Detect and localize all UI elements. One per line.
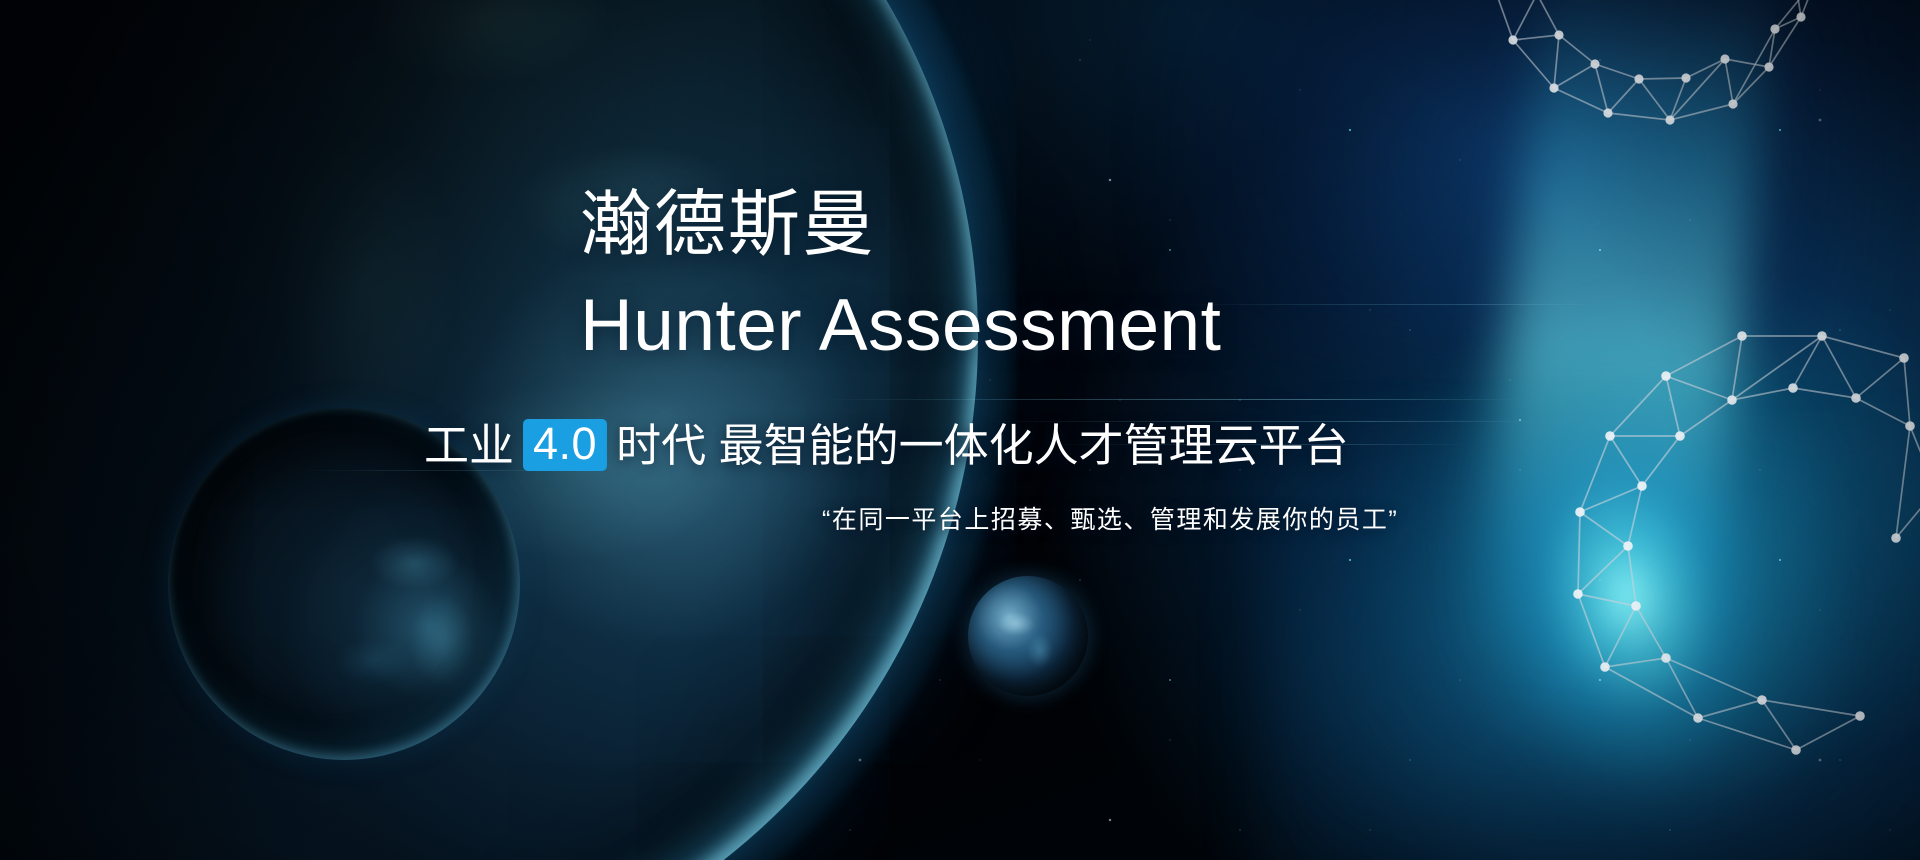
- brand-title-english: Hunter Assessment: [580, 289, 1221, 362]
- tagline: 工业 4.0 时代 最智能的一体化人才管理云平台: [424, 419, 1349, 471]
- brand-title-chinese: 瀚德斯曼: [580, 189, 876, 261]
- hero-banner: 瀚德斯曼 Hunter Assessment 工业 4.0 时代 最智能的一体化…: [0, 0, 1920, 860]
- tagline-subquote: “在同一平台上招募、甄选、管理和发展你的员工”: [822, 508, 1398, 533]
- tagline-prefix: 工业: [424, 423, 514, 468]
- industry-version-badge: 4.0: [523, 419, 607, 471]
- hero-copy: 瀚德斯曼 Hunter Assessment 工业 4.0 时代 最智能的一体化…: [0, 0, 1920, 860]
- tagline-suffix: 时代 最智能的一体化人才管理云平台: [616, 423, 1349, 468]
